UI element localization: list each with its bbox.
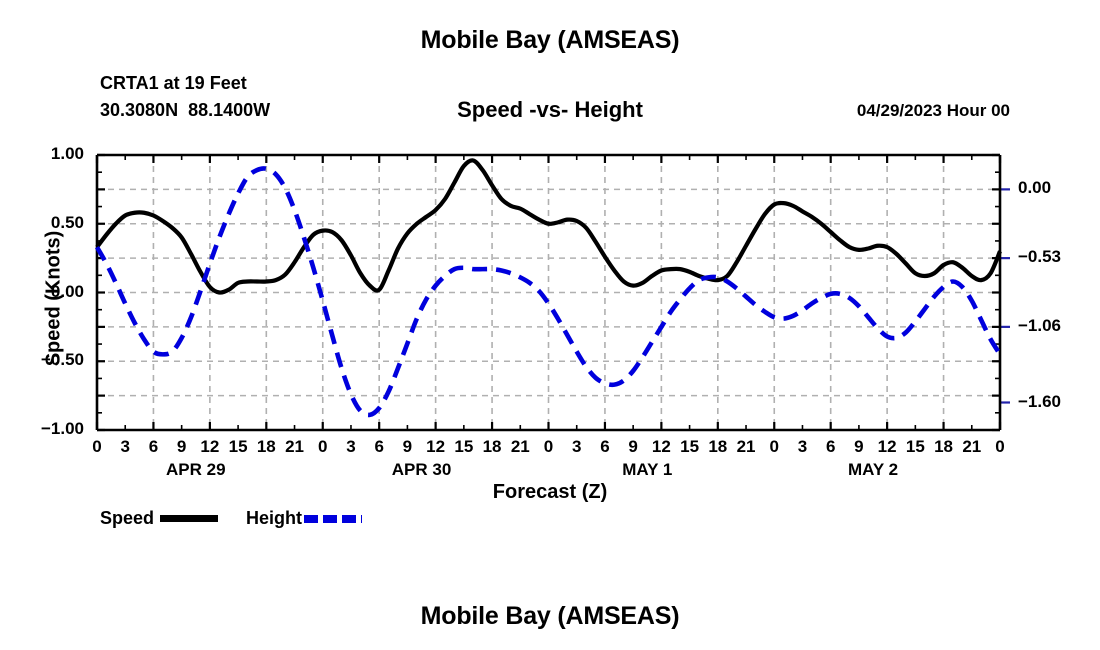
x-tick-label: 12 bbox=[426, 437, 445, 457]
x-tick-label: 3 bbox=[798, 437, 807, 457]
chart-legend: Speed Height bbox=[100, 508, 362, 529]
x-tick-label: 6 bbox=[149, 437, 158, 457]
legend-swatch-speed-icon bbox=[160, 515, 218, 522]
x-tick-label: 15 bbox=[680, 437, 699, 457]
x-tick-label: 0 bbox=[544, 437, 553, 457]
y-tick-label: 1.00 bbox=[51, 144, 84, 164]
chart-plot bbox=[0, 0, 1100, 650]
x-tick-label: 9 bbox=[854, 437, 863, 457]
x-tick-label: 0 bbox=[318, 437, 327, 457]
x-tick-label: 21 bbox=[962, 437, 981, 457]
x-tick-label: 18 bbox=[483, 437, 502, 457]
x-tick-label: 9 bbox=[177, 437, 186, 457]
x-tick-label: 0 bbox=[92, 437, 101, 457]
x-tick-label: 6 bbox=[600, 437, 609, 457]
x-axis-day-label: APR 29 bbox=[166, 460, 226, 480]
x-axis-day-label: APR 30 bbox=[392, 460, 452, 480]
x-tick-label: 18 bbox=[257, 437, 276, 457]
x-tick-label: 9 bbox=[628, 437, 637, 457]
y-tick-label-right: −1.06 bbox=[1018, 316, 1061, 336]
x-tick-label: 21 bbox=[511, 437, 530, 457]
x-tick-label: 6 bbox=[826, 437, 835, 457]
x-axis-day-label: MAY 2 bbox=[848, 460, 898, 480]
x-tick-label: 15 bbox=[454, 437, 473, 457]
x-tick-label: 12 bbox=[652, 437, 671, 457]
footer-title: Mobile Bay (AMSEAS) bbox=[0, 602, 1100, 631]
y-tick-label-right: −1.60 bbox=[1018, 392, 1061, 412]
grid-lines bbox=[97, 155, 1000, 430]
x-tick-label: 15 bbox=[906, 437, 925, 457]
x-tick-label: 3 bbox=[346, 437, 355, 457]
x-tick-label: 12 bbox=[878, 437, 897, 457]
y-tick-label-right: 0.00 bbox=[1018, 178, 1051, 198]
x-tick-label: 15 bbox=[229, 437, 248, 457]
chart-page: Mobile Bay (AMSEAS) CRTA1 at 19 Feet 30.… bbox=[0, 0, 1100, 650]
x-tick-label: 18 bbox=[708, 437, 727, 457]
x-tick-label: 0 bbox=[995, 437, 1004, 457]
x-axis-day-label: MAY 1 bbox=[622, 460, 672, 480]
x-tick-label: 6 bbox=[374, 437, 383, 457]
x-tick-label: 9 bbox=[403, 437, 412, 457]
x-tick-label: 0 bbox=[770, 437, 779, 457]
y-tick-label: 0.50 bbox=[51, 213, 84, 233]
x-tick-label: 21 bbox=[285, 437, 304, 457]
x-tick-label: 21 bbox=[737, 437, 756, 457]
y-tick-label-right: −0.53 bbox=[1018, 247, 1061, 267]
y-tick-label: −1.00 bbox=[41, 419, 84, 439]
x-axis-title: Forecast (Z) bbox=[0, 481, 1100, 504]
x-tick-label: 3 bbox=[572, 437, 581, 457]
x-tick-label: 18 bbox=[934, 437, 953, 457]
y-tick-label: 0.00 bbox=[51, 282, 84, 302]
x-tick-label: 12 bbox=[200, 437, 219, 457]
legend-swatch-height-icon bbox=[304, 515, 362, 523]
x-tick-label: 3 bbox=[120, 437, 129, 457]
legend-label-speed: Speed bbox=[100, 508, 154, 529]
y-tick-label: −0.50 bbox=[41, 350, 84, 370]
legend-label-height: Height bbox=[246, 508, 302, 529]
